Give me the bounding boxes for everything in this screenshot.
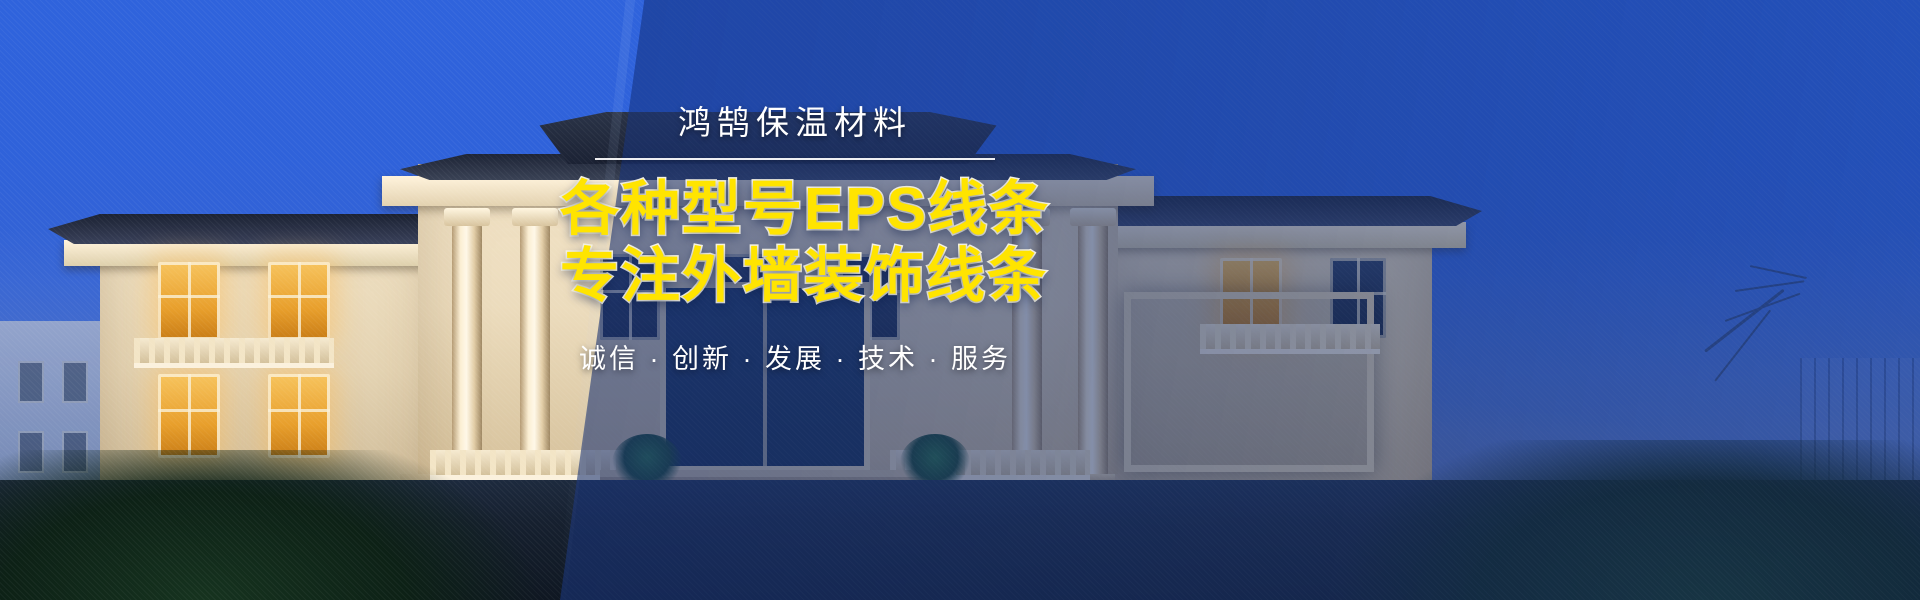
villa-left-roof [48,214,480,244]
window-lit [158,374,220,458]
column [452,224,482,474]
headline-line-1: 各种型号EPS线条 [560,176,1030,243]
column [520,224,550,474]
tagline: 诚信 · 创新 · 发展 · 技术 · 服务 [560,337,1030,376]
window-lit [268,374,330,458]
headline-line-2: 专注外墙装饰线条 [560,243,1030,310]
banner-copy: 鸿鹄保温材料 各种型号EPS线条 专注外墙装饰线条 诚信 · 创新 · 发展 ·… [560,96,1030,376]
window-lit [158,262,220,340]
divider-rule [595,158,995,160]
brand-name: 鸿鹄保温材料 [560,96,1030,144]
hero-banner: 鸿鹄保温材料 各种型号EPS线条 专注外墙装饰线条 诚信 · 创新 · 发展 ·… [0,0,1920,600]
window-lit [268,262,330,340]
balustrade [134,338,334,368]
hedge-left [0,450,540,600]
